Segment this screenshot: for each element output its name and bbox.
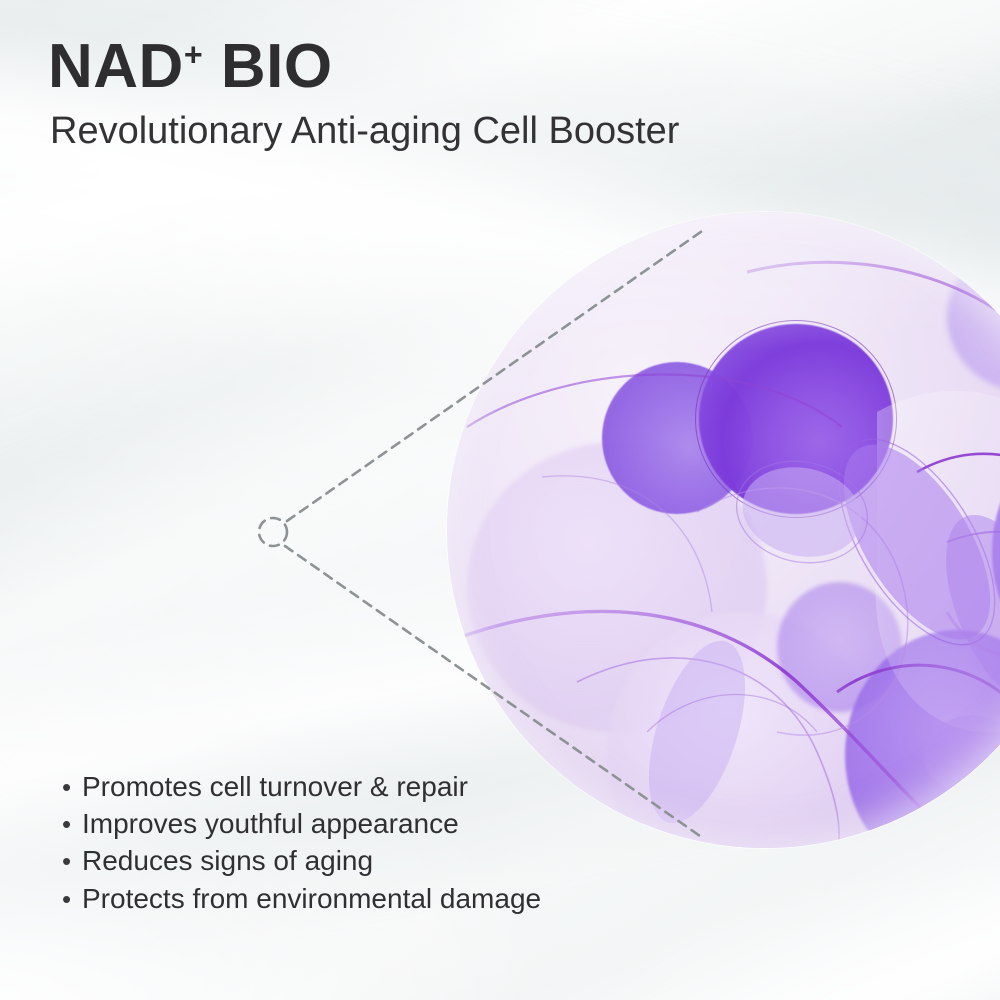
- heading-block: NAD+ BIO Revolutionary Anti-aging Cell B…: [48, 36, 679, 152]
- bullet-glyph: •: [62, 807, 82, 842]
- bullet-glyph: •: [62, 844, 82, 879]
- cell-membrane-10: [542, 476, 712, 612]
- list-item: •Improves youthful appearance: [62, 805, 541, 842]
- cell-artwork: [447, 212, 1000, 848]
- benefit-text: Protects from environmental damage: [82, 880, 541, 917]
- bullet-glyph: •: [62, 882, 82, 917]
- benefits-list: •Promotes cell turnover & repair •Improv…: [62, 768, 541, 917]
- cell-membrane-2: [747, 262, 1000, 382]
- page-subtitle: Revolutionary Anti-aging Cell Booster: [50, 112, 679, 152]
- cell-membrane-3: [467, 374, 842, 427]
- list-item: •Promotes cell turnover & repair: [62, 768, 541, 805]
- cell-membrane-lines: [447, 212, 1000, 848]
- list-item: •Reduces signs of aging: [62, 842, 541, 879]
- list-item: •Protects from environmental damage: [62, 880, 541, 917]
- bullet-glyph: •: [62, 770, 82, 805]
- title-superscript: +: [184, 36, 203, 72]
- title-tail: BIO: [203, 32, 332, 101]
- title-main: NAD: [48, 32, 184, 101]
- magnified-cell-circle: [447, 212, 1000, 848]
- page-title: NAD+ BIO: [48, 36, 679, 98]
- cell-vesicle-4: [914, 704, 1000, 800]
- benefit-text: Promotes cell turnover & repair: [82, 768, 468, 805]
- benefit-text: Reduces signs of aging: [82, 842, 373, 879]
- promo-graphic-canvas: NAD+ BIO Revolutionary Anti-aging Cell B…: [0, 0, 1000, 1000]
- benefit-text: Improves youthful appearance: [82, 805, 459, 842]
